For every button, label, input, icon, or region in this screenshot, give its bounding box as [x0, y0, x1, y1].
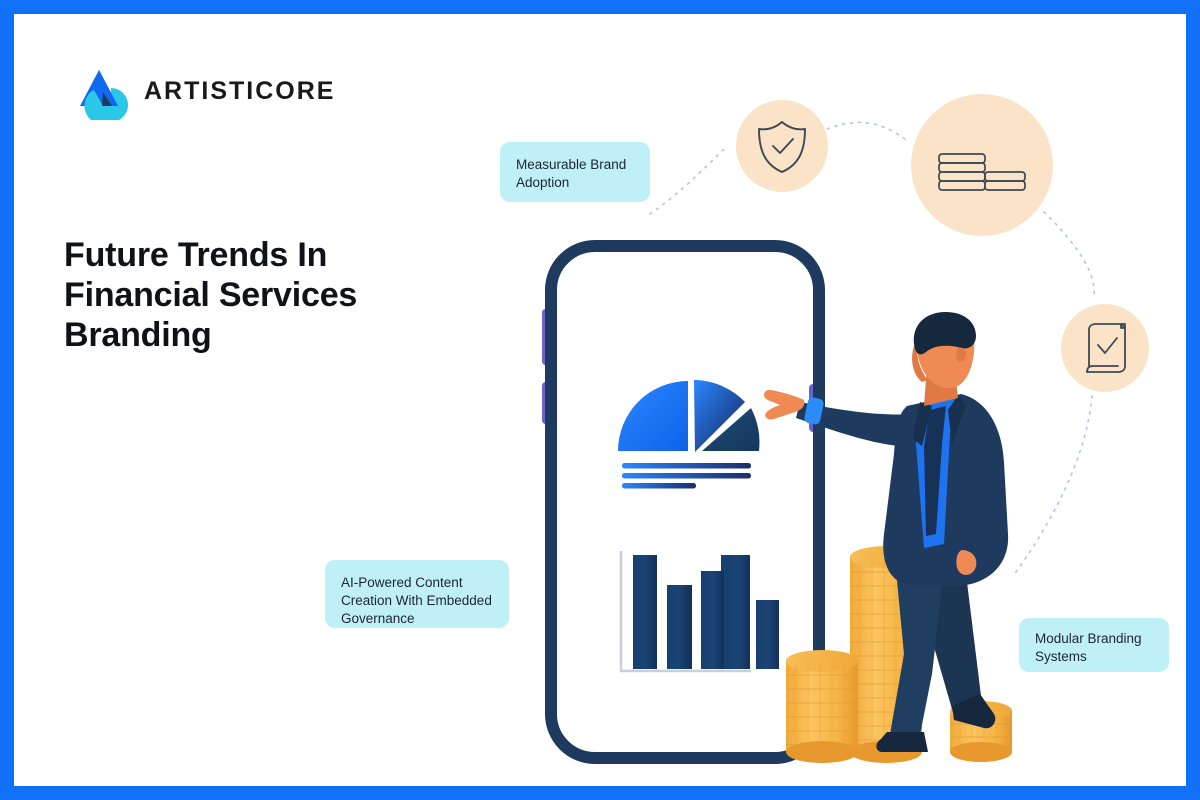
slide-canvas: ARTISTICORE Future Trends In Financial S…: [0, 0, 1200, 800]
callout-modular-branding-systems[interactable]: Modular Branding Systems: [1019, 618, 1169, 672]
artisticore-logo-mark: [78, 66, 136, 120]
slide-inner-panel: ARTISTICORE Future Trends In Financial S…: [14, 14, 1186, 786]
icon-bubble-document: [1061, 304, 1149, 392]
smartphone-frame: [551, 246, 819, 758]
document-check-icon: [1061, 304, 1149, 392]
page-title: Future Trends In Financial Services Bran…: [64, 235, 464, 355]
brand-logo[interactable]: ARTISTICORE: [64, 60, 384, 124]
icon-bubble-coins: [911, 94, 1053, 236]
callout-measurable-brand-adoption[interactable]: Measurable Brand Adoption: [500, 142, 650, 202]
shield-check-icon: [736, 100, 828, 192]
icon-bubble-shield: [736, 100, 828, 192]
callout-ai-powered-content[interactable]: AI-Powered Content Creation With Embedde…: [325, 560, 509, 628]
brand-name: ARTISTICORE: [144, 77, 335, 105]
coin-stack-short-left: [786, 650, 858, 763]
coin-stack-icon: [911, 94, 1053, 236]
phone-pie-chart: [618, 380, 759, 489]
phone-bar-chart-bars: [633, 555, 779, 669]
